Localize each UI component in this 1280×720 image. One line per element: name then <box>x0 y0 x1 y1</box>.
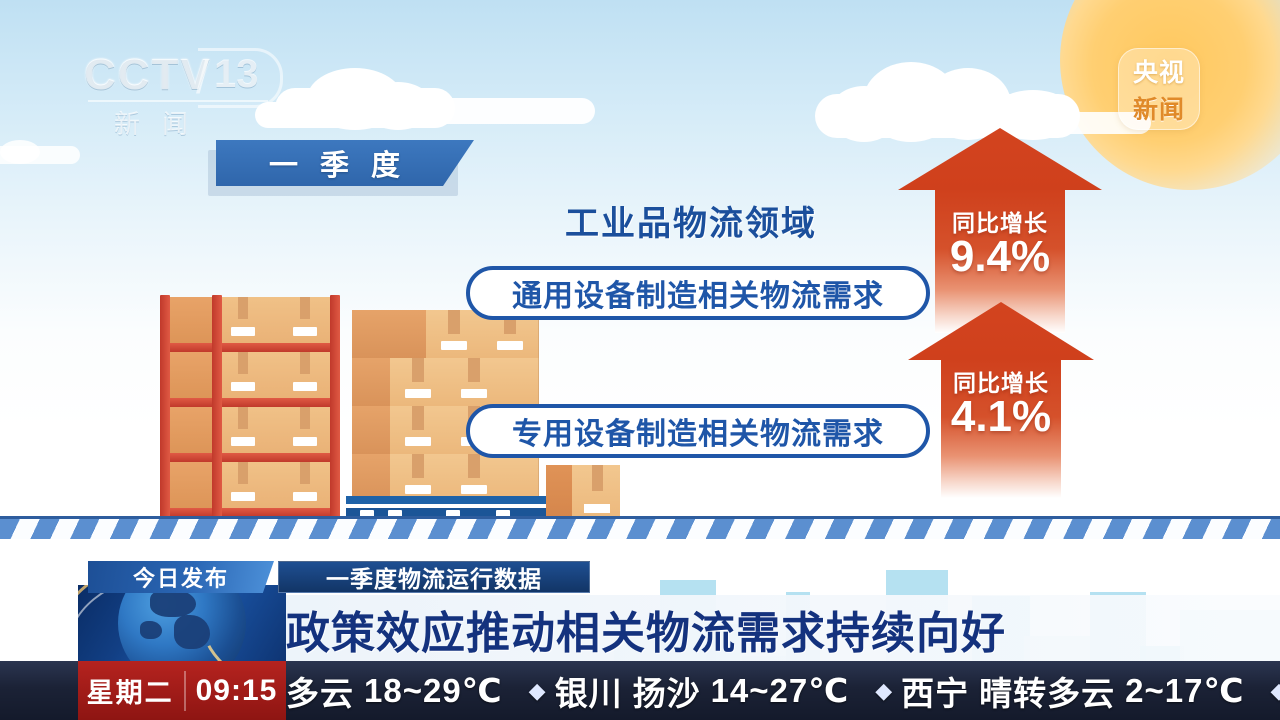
category-pill-2-label: 专用设备制造相关物流需求 <box>512 409 884 453</box>
cctv-logo-number: 13 <box>214 52 259 97</box>
category-pill-1: 通用设备制造相关物流需求 <box>466 266 930 320</box>
app-badge-line2: 新闻 <box>1133 90 1185 126</box>
cctv13-logo: CCTV / 13 新闻 <box>78 52 278 144</box>
category-pill-2: 专用设备制造相关物流需求 <box>466 404 930 458</box>
single-box-graphic <box>546 465 620 521</box>
arrow-value-2: 4.1% <box>908 392 1094 442</box>
weather-item-2-temp: 2~17℃ <box>1115 671 1244 710</box>
weather-item-1-cond: 扬沙 <box>623 667 701 715</box>
arrow-value-1: 9.4% <box>898 232 1102 282</box>
tag-topic-label: 一季度物流运行数据 <box>326 560 542 594</box>
app-badge-line1: 央视 <box>1133 53 1185 89</box>
weather-item-0-temp: 18~29℃ <box>354 671 503 710</box>
cctv-logo-text: CCTV <box>84 50 212 100</box>
datetime-box: 星期二 09:15 <box>78 661 286 720</box>
weather-item-2-cond: 晴转多云 <box>969 667 1115 715</box>
weather-item-0-cond: 多云 <box>286 667 354 715</box>
arrow-head-2 <box>908 302 1094 360</box>
growth-arrow-2: 同比增长 4.1% <box>908 302 1094 492</box>
weather-item-1-city: 银川 <box>555 667 623 715</box>
category-pill-1-label: 通用设备制造相关物流需求 <box>512 271 884 315</box>
infographic-stage: CCTV / 13 新闻 央视 新闻 一 季 度 工业品物流领域 <box>0 0 1280 535</box>
tag-topic: 一季度物流运行数据 <box>278 561 590 593</box>
broadcast-screen: CCTV / 13 新闻 央视 新闻 一 季 度 工业品物流领域 <box>0 0 1280 720</box>
weather-bullet-3: ◆ <box>1244 678 1280 704</box>
sector-title: 工业品物流领域 <box>565 196 817 245</box>
cctv-logo-underline <box>88 100 268 102</box>
cctv-news-app-badge: 央视 新闻 <box>1118 48 1200 130</box>
news-globe-graphic <box>78 585 286 663</box>
quarter-banner: 一 季 度 <box>216 140 474 186</box>
warehouse-shelf-graphic <box>160 295 340 520</box>
weather-ticker-bar: 星期二 09:15 多云 18~29℃ ◆ 银川 扬沙 14~27℃ ◆ 西宁 … <box>0 661 1280 720</box>
headline-text: 政策效应推动相关物流需求持续向好 <box>286 597 1006 661</box>
weather-bullet-2: ◆ <box>849 678 901 704</box>
tag-today: 今日发布 <box>88 561 274 593</box>
headline: 政策效应推动相关物流需求持续向好 <box>286 597 1186 661</box>
cctv-logo-slash: / <box>196 50 209 104</box>
cctv-logo-chinese: 新闻 <box>114 104 210 141</box>
tag-today-label: 今日发布 <box>133 561 229 593</box>
cloud-decoration-edge <box>0 140 90 166</box>
clock-time: 09:15 <box>196 674 278 708</box>
weather-item-1-temp: 14~27℃ <box>701 671 850 710</box>
weekday-label: 星期二 <box>87 671 174 710</box>
quarter-banner-label: 一 季 度 <box>269 142 421 184</box>
weather-bullet-1: ◆ <box>503 678 555 704</box>
datetime-separator <box>184 671 186 711</box>
weather-scroller: 多云 18~29℃ ◆ 银川 扬沙 14~27℃ ◆ 西宁 晴转多云 2~17℃… <box>286 661 1280 720</box>
cloud-decoration-left <box>255 60 615 130</box>
arrow-head-1 <box>898 128 1102 190</box>
weather-item-2-city: 西宁 <box>901 667 969 715</box>
